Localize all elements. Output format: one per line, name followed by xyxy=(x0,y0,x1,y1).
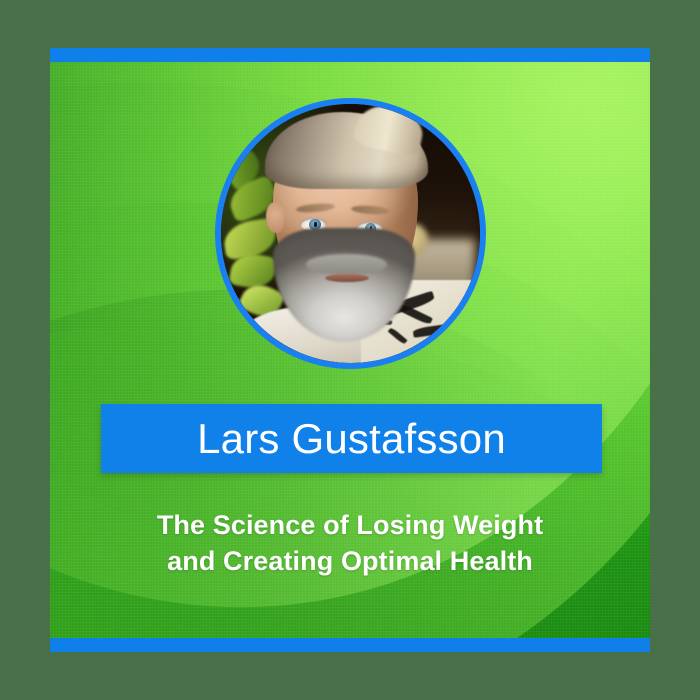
garment-pattern-mark xyxy=(413,323,454,337)
talk-title-line-2: and Creating Optimal Health xyxy=(90,544,610,580)
talk-title-line-1: The Science of Losing Weight xyxy=(90,508,610,544)
avatar-photo xyxy=(221,104,480,363)
card-bottom-accent-bar xyxy=(50,638,650,652)
card-top-accent-bar xyxy=(50,48,650,62)
avatar[interactable] xyxy=(215,98,486,369)
photo-mouth xyxy=(325,274,369,282)
photo-pupil xyxy=(314,222,316,227)
talk-title: The Science of Losing Weight and Creatin… xyxy=(90,508,610,579)
speaker-name-banner: Lars Gustafsson xyxy=(101,404,602,473)
photo-moustache xyxy=(306,254,386,275)
screenshot-stage: Lars Gustafsson The Science of Losing We… xyxy=(0,0,700,700)
garment-pattern-mark xyxy=(388,327,408,345)
photo-ear xyxy=(266,202,284,233)
speaker-name: Lars Gustafsson xyxy=(197,418,506,460)
garment-pattern-mark xyxy=(430,334,460,356)
speaker-card[interactable]: Lars Gustafsson The Science of Losing We… xyxy=(50,48,650,652)
